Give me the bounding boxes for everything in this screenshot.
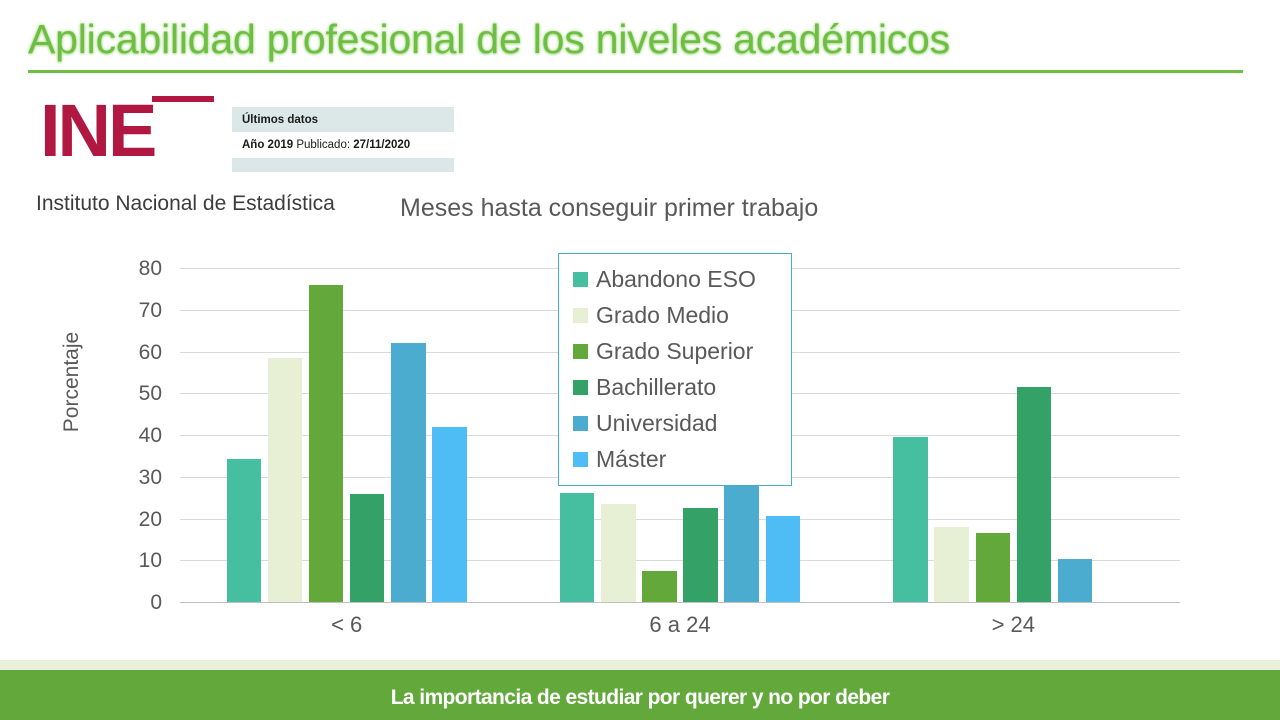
legend-item-label: Universidad <box>596 412 717 435</box>
y-tick-label: 50 <box>102 383 162 404</box>
bar[interactable] <box>391 343 426 602</box>
bar[interactable] <box>560 493 595 602</box>
footer-accent-stripe <box>0 660 1280 670</box>
chart-title: Meses hasta conseguir primer trabajo <box>400 194 818 223</box>
legend-item-3[interactable]: Grado Superior <box>573 333 781 369</box>
x-tick-label: > 24 <box>847 612 1180 638</box>
bar[interactable] <box>976 533 1011 602</box>
y-axis-label: Porcentaje <box>60 302 84 462</box>
page-title: Aplicabilidad profesional de los niveles… <box>28 14 1252 64</box>
bar[interactable] <box>642 571 677 602</box>
y-tick-label: 40 <box>102 425 162 446</box>
legend-swatch-icon <box>573 452 588 467</box>
bar[interactable] <box>601 504 636 602</box>
bar[interactable] <box>432 427 467 602</box>
chart-legend[interactable]: Abandono ESOGrado MedioGrado SuperiorBac… <box>558 253 792 486</box>
bar[interactable] <box>683 508 718 602</box>
y-tick-label: 0 <box>102 592 162 613</box>
x-tick-label: < 6 <box>180 612 513 638</box>
latest-data-header: Últimos datos <box>232 107 454 132</box>
bar[interactable] <box>1017 387 1052 602</box>
ine-logo: INE <box>38 90 228 175</box>
legend-item-label: Grado Medio <box>596 304 729 327</box>
bar[interactable] <box>350 494 385 602</box>
legend-item-1[interactable]: Abandono ESO <box>573 261 781 297</box>
legend-item-label: Máster <box>596 448 666 471</box>
legend-item-label: Grado Superior <box>596 340 753 363</box>
footer-text: La importancia de estudiar por querer y … <box>0 686 1280 710</box>
latest-data-published-label: Publicado: <box>296 139 350 151</box>
x-axis-line <box>180 602 1180 603</box>
legend-item-4[interactable]: Bachillerato <box>573 369 781 405</box>
legend-swatch-icon <box>573 416 588 431</box>
legend-item-5[interactable]: Universidad <box>573 405 781 441</box>
legend-swatch-icon <box>573 272 588 287</box>
title-underline-rule <box>28 70 1243 73</box>
ine-wordmark-text: INE <box>40 94 230 168</box>
legend-item-6[interactable]: Máster <box>573 441 781 477</box>
bar[interactable] <box>766 516 801 602</box>
y-tick-label: 10 <box>102 550 162 571</box>
bar[interactable] <box>268 358 303 602</box>
legend-item-2[interactable]: Grado Medio <box>573 297 781 333</box>
bar[interactable] <box>893 437 928 602</box>
y-tick-label: 80 <box>102 258 162 279</box>
legend-swatch-icon <box>573 308 588 323</box>
y-tick-label: 30 <box>102 467 162 488</box>
latest-data-box: Últimos datos Año 2019 Publicado: 27/11/… <box>232 107 454 172</box>
y-tick-label: 60 <box>102 342 162 363</box>
latest-data-year: Año 2019 <box>242 139 293 151</box>
legend-item-label: Abandono ESO <box>596 268 756 291</box>
legend-swatch-icon <box>573 344 588 359</box>
latest-data-published-date: 27/11/2020 <box>353 139 410 151</box>
bar[interactable] <box>724 485 759 602</box>
legend-swatch-icon <box>573 380 588 395</box>
x-tick-label: 6 a 24 <box>513 612 846 638</box>
bar[interactable] <box>227 459 262 602</box>
ine-macron-bar <box>152 96 214 102</box>
bar[interactable] <box>1058 559 1093 602</box>
ine-subtitle-text: Instituto Nacional de Estadística <box>36 192 335 216</box>
latest-data-row: Año 2019 Publicado: 27/11/2020 <box>232 132 454 158</box>
legend-item-label: Bachillerato <box>596 376 716 399</box>
bar[interactable] <box>309 285 344 602</box>
y-tick-label: 70 <box>102 300 162 321</box>
bar[interactable] <box>934 527 969 602</box>
y-tick-label: 20 <box>102 509 162 530</box>
